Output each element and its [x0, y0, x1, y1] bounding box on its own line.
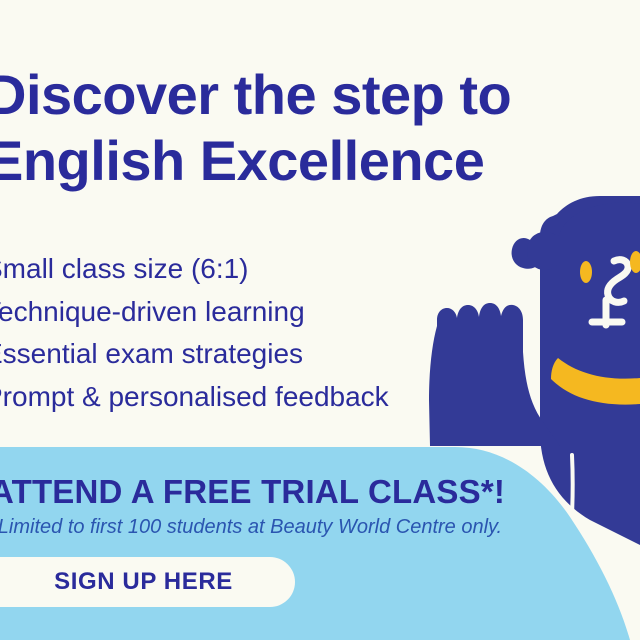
list-item: Prompt & personalised feedback [0, 376, 640, 419]
headline-line-2: English Excellence [0, 128, 640, 194]
promo-banner: ATTEND A FREE TRIAL CLASS*! *Limited to … [0, 447, 640, 640]
advertisement-banner: Discover the step to English Excellence … [0, 0, 640, 640]
list-item: Small class size (6:1) [0, 248, 640, 291]
list-item: Essential exam strategies [0, 333, 640, 376]
list-item: Technique-driven learning [0, 291, 640, 334]
headline-line-1: Discover the step to [0, 62, 640, 128]
headline: Discover the step to English Excellence [0, 62, 640, 194]
banner-title: ATTEND A FREE TRIAL CLASS*! [0, 473, 640, 511]
banner-subtitle: *Limited to first 100 students at Beauty… [0, 516, 640, 539]
feature-list: Small class size (6:1) Technique-driven … [0, 248, 640, 418]
sign-up-here-button[interactable]: SIGN UP HERE [0, 557, 295, 607]
